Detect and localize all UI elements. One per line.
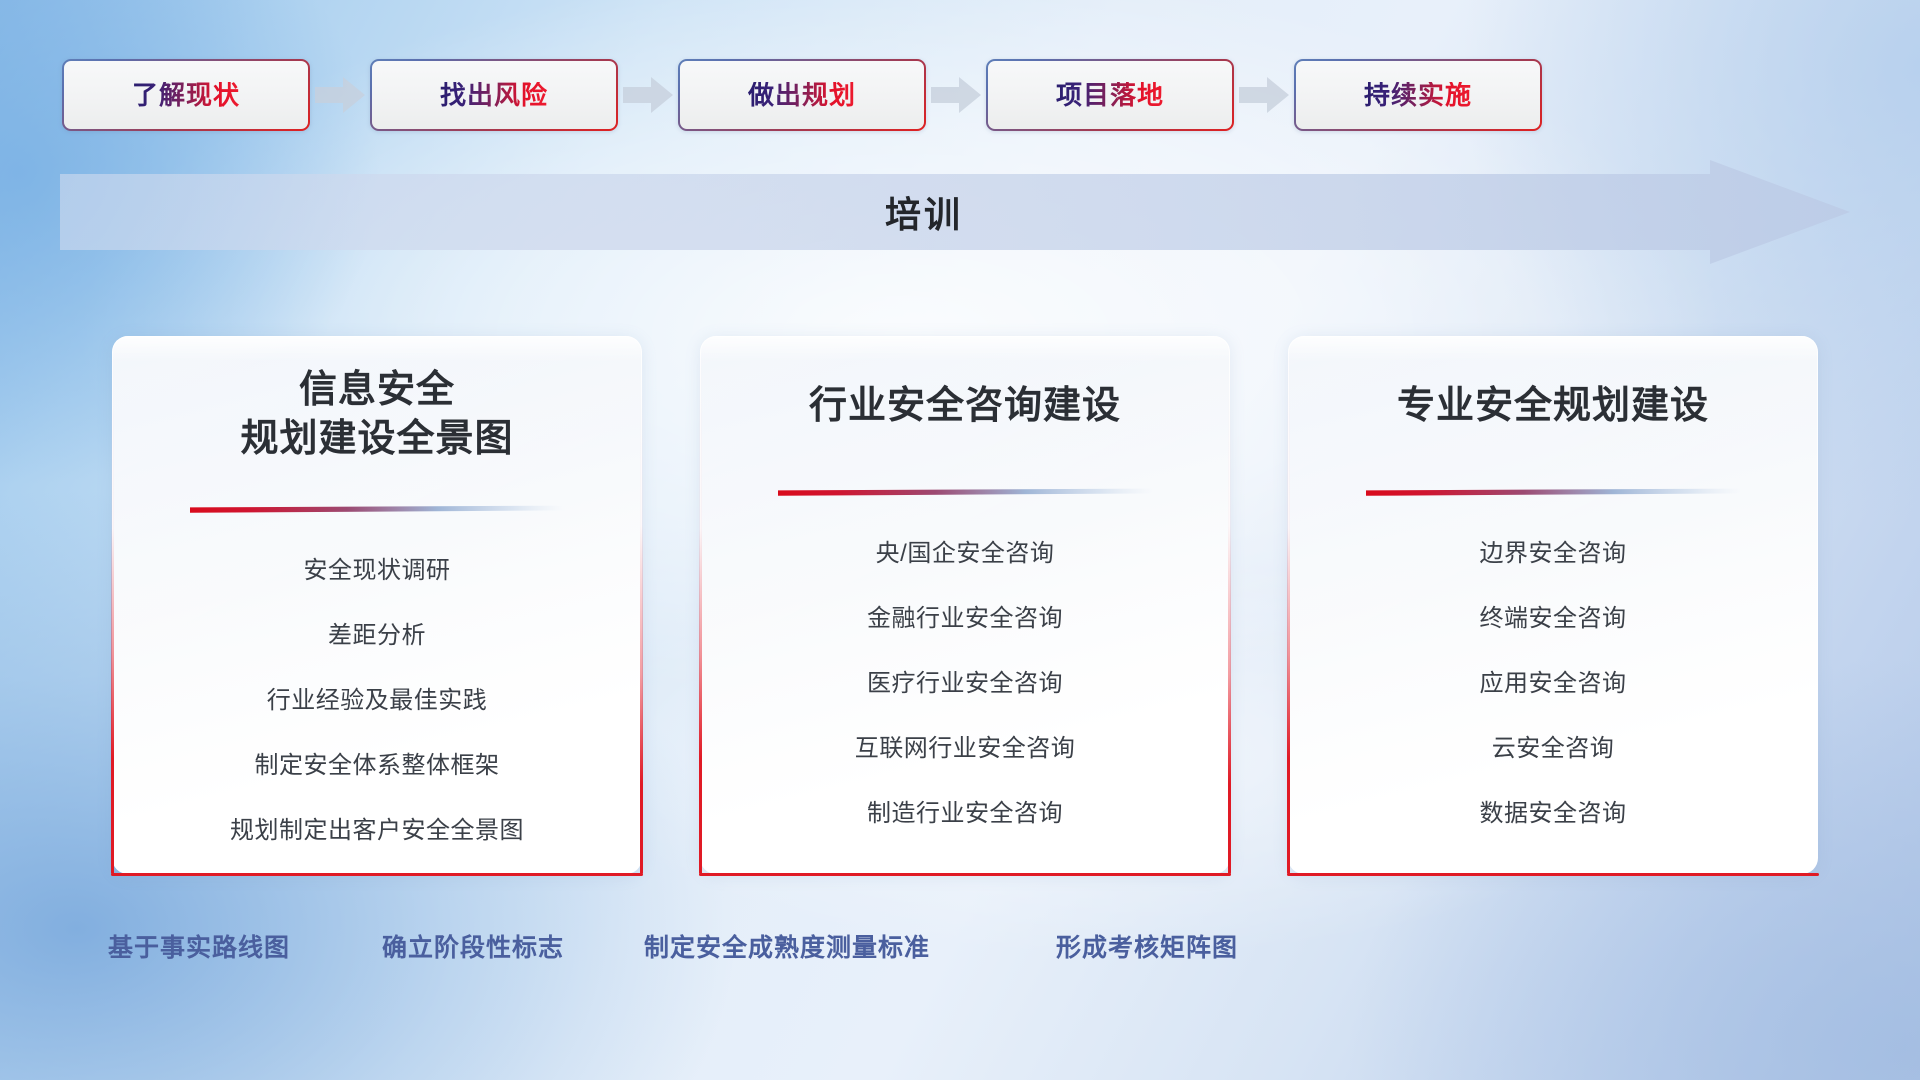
list-item: 边界安全咨询 (1288, 542, 1818, 566)
list-item: 差距分析 (112, 624, 642, 648)
card-bottom-accent-bar (699, 873, 1231, 876)
card-industry-security-consulting[interactable]: 行业安全咨询建设 央/国企安全咨询 金融行业安全咨询 (700, 336, 1230, 874)
list-item: 应用安全咨询 (1288, 672, 1818, 696)
step-pill-2-label: 找出风险 (440, 82, 548, 108)
step-pill-5-label: 持续实施 (1364, 82, 1472, 108)
step-pill-2[interactable]: 找出风险 (370, 59, 618, 131)
list-item: 制定安全体系整体框架 (112, 754, 642, 778)
card-title: 行业安全咨询建设 (700, 336, 1230, 431)
card-item-list: 央/国企安全咨询 金融行业安全咨询 医疗行业安全咨询 互联网行业安全咨询 制造行… (700, 542, 1230, 826)
list-item: 互联网行业安全咨询 (700, 737, 1230, 761)
card-professional-security-planning[interactable]: 专业安全规划建设 边界安全咨询 终端安全咨询 应 (1288, 336, 1818, 874)
card-divider (190, 505, 565, 513)
card-bottom-accent-bar (111, 873, 643, 876)
step-pill-5[interactable]: 持续实施 (1294, 59, 1542, 131)
step-pill-1-surface: 了解现状 (64, 61, 308, 129)
list-item: 金融行业安全咨询 (700, 607, 1230, 631)
list-item: 规划制定出客户安全全景图 (112, 819, 642, 843)
card-item-list: 边界安全咨询 终端安全咨询 应用安全咨询 云安全咨询 数据安全咨询 (1288, 542, 1818, 826)
card-information-security-blueprint[interactable]: 信息安全 规划建设全景图 安全现状调研 差距分析 (112, 336, 642, 874)
step-pill-4-surface: 项目落地 (988, 61, 1232, 129)
footnote-label-4: 形成考核矩阵图 (1056, 936, 1238, 961)
list-item: 制造行业安全咨询 (700, 802, 1230, 826)
card-divider (1366, 488, 1741, 496)
training-banner: 培训 (60, 160, 1850, 264)
step-arrow-icon-3 (929, 74, 983, 116)
step-pill-2-surface: 找出风险 (372, 61, 616, 129)
card-bottom-accent-bar (1287, 873, 1819, 876)
step-pill-5-surface: 持续实施 (1296, 61, 1540, 129)
step-pill-3-surface: 做出规划 (680, 61, 924, 129)
list-item: 行业经验及最佳实践 (112, 689, 642, 713)
list-item: 安全现状调研 (112, 559, 642, 583)
list-item: 医疗行业安全咨询 (700, 672, 1230, 696)
step-pill-1-label: 了解现状 (132, 82, 240, 108)
step-arrow-icon-2 (621, 74, 675, 116)
card-divider (778, 488, 1153, 496)
step-pill-4[interactable]: 项目落地 (986, 59, 1234, 131)
step-arrow-icon-1 (313, 74, 367, 116)
training-banner-arrow-shape (60, 160, 1850, 264)
list-item: 数据安全咨询 (1288, 802, 1818, 826)
step-arrow-icon-4 (1237, 74, 1291, 116)
list-item: 终端安全咨询 (1288, 607, 1818, 631)
step-pill-3[interactable]: 做出规划 (678, 59, 926, 131)
step-pill-3-label: 做出规划 (748, 82, 856, 108)
step-pill-1[interactable]: 了解现状 (62, 59, 310, 131)
process-steps-row: 了解现状 找出风险 做出规划 项目落地 (0, 58, 1920, 132)
step-pill-4-label: 项目落地 (1056, 82, 1164, 108)
card-item-list: 安全现状调研 差距分析 行业经验及最佳实践 制定安全体系整体框架 规划制定出客户… (112, 559, 642, 843)
cards-row: 信息安全 规划建设全景图 安全现状调研 差距分析 (0, 336, 1920, 888)
list-item: 云安全咨询 (1288, 737, 1818, 761)
footnote-label-1: 基于事实路线图 (108, 936, 290, 961)
footnote-label-3: 制定安全成熟度测量标准 (644, 936, 930, 961)
card-title: 信息安全 规划建设全景图 (112, 336, 642, 465)
footnote-label-2: 确立阶段性标志 (382, 936, 564, 961)
card-title: 专业安全规划建设 (1288, 336, 1818, 431)
footnote-row: 基于事实路线图 确立阶段性标志 制定安全成熟度测量标准 形成考核矩阵图 (0, 936, 1920, 992)
list-item: 央/国企安全咨询 (700, 542, 1230, 566)
